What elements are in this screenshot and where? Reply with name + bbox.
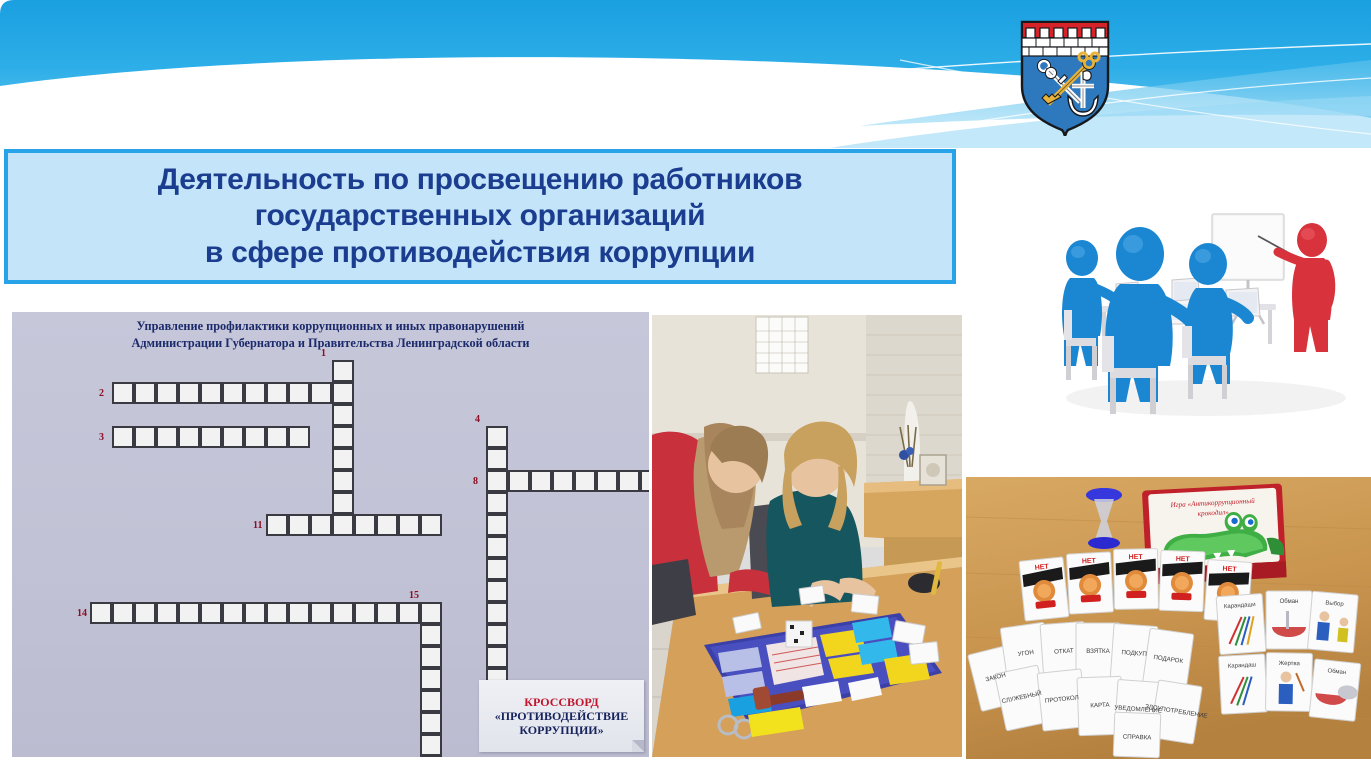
crossword-clue-number: 15 — [409, 590, 419, 601]
crossword-cell[interactable] — [486, 470, 508, 492]
crossword-cell[interactable] — [486, 514, 508, 536]
crossword-cell[interactable] — [310, 382, 332, 404]
slide-root: Деятельность по просвещению работников г… — [0, 0, 1371, 769]
crossword-cell[interactable] — [486, 448, 508, 470]
crossword-cell[interactable] — [508, 470, 530, 492]
crossword-cell[interactable] — [332, 404, 354, 426]
crossword-cell[interactable] — [266, 382, 288, 404]
svg-text:крокодил»: крокодил» — [1197, 508, 1229, 518]
crossword-cell[interactable] — [618, 470, 640, 492]
svg-text:НЕТ: НЕТ — [1082, 558, 1097, 566]
svg-text:СПРАВКА: СПРАВКА — [1123, 734, 1153, 742]
crossword-label-line-3: КОРРУПЦИИ» — [519, 723, 603, 737]
crossword-cell[interactable] — [200, 602, 222, 624]
crossword-cell[interactable] — [486, 624, 508, 646]
crossword-cell[interactable] — [332, 382, 354, 404]
crossword-cell[interactable] — [134, 382, 156, 404]
crossword-cell[interactable] — [178, 602, 200, 624]
header-banner — [0, 0, 1371, 160]
crossword-cell[interactable] — [420, 514, 442, 536]
crossword-cell[interactable] — [288, 602, 310, 624]
title-line-1: Деятельность по просвещению работников — [158, 162, 802, 199]
game-cards-photo: Игра «Антикоррупционный крокодил» — [966, 477, 1371, 759]
crossword-clue-number: 2 — [99, 388, 104, 399]
crossword-cell[interactable] — [376, 514, 398, 536]
crossword-cell[interactable] — [398, 602, 420, 624]
crossword-cell[interactable] — [222, 382, 244, 404]
svg-text:ВЗЯТКА: ВЗЯТКА — [1086, 648, 1110, 655]
crossword-cell[interactable] — [244, 602, 266, 624]
crossword-cell[interactable] — [354, 602, 376, 624]
crossword-cell[interactable] — [486, 602, 508, 624]
crossword-cell[interactable] — [486, 646, 508, 668]
crossword-cell[interactable] — [200, 382, 222, 404]
crossword-cell[interactable] — [486, 558, 508, 580]
title-line-3: в сфере противодействия коррупции — [158, 235, 802, 272]
svg-text:НЕТ: НЕТ — [1222, 566, 1237, 574]
training-illustration — [1036, 196, 1366, 418]
crossword-cell[interactable] — [156, 602, 178, 624]
crossword-image: Управление профилактики коррупционных и … — [12, 312, 649, 757]
crossword-cell[interactable] — [486, 426, 508, 448]
crossword-cell[interactable] — [156, 426, 178, 448]
crossword-cell[interactable] — [244, 382, 266, 404]
training-photo — [652, 315, 962, 757]
crossword-cell[interactable] — [640, 470, 649, 492]
crossword-cell[interactable] — [332, 492, 354, 514]
svg-text:Жертва: Жертва — [1279, 661, 1301, 667]
crossword-cell[interactable] — [112, 382, 134, 404]
crossword-cell[interactable] — [552, 470, 574, 492]
crossword-cell[interactable] — [266, 514, 288, 536]
crossword-cell[interactable] — [332, 514, 354, 536]
crossword-cell[interactable] — [222, 426, 244, 448]
crossword-cell[interactable] — [156, 382, 178, 404]
svg-text:ОТКАТ: ОТКАТ — [1054, 647, 1074, 655]
crossword-clue-number: 1 — [321, 348, 326, 359]
crossword-cell[interactable] — [200, 426, 222, 448]
crossword-cell[interactable] — [134, 426, 156, 448]
crossword-cell[interactable] — [486, 492, 508, 514]
crossword-cell[interactable] — [376, 602, 398, 624]
svg-text:НЕТ: НЕТ — [1176, 556, 1191, 564]
crossword-cell[interactable] — [332, 448, 354, 470]
crossword-cell[interactable] — [420, 602, 442, 624]
svg-text:Обман: Обман — [1280, 599, 1299, 605]
slide-title-box: Деятельность по просвещению работников г… — [4, 149, 956, 284]
crossword-cell[interactable] — [244, 426, 266, 448]
crossword-label-line-2: «ПРОТИВОДЕЙСТВИЕ — [495, 709, 629, 723]
crossword-cell[interactable] — [310, 514, 332, 536]
crossword-clue-number: 3 — [99, 432, 104, 443]
crossword-title-card: КРОССВОРД «ПРОТИВОДЕЙСТВИЕ КОРРУПЦИИ» — [479, 680, 644, 752]
crossword-cell[interactable] — [420, 646, 442, 668]
crossword-cell[interactable] — [288, 382, 310, 404]
crossword-clue-number: 8 — [473, 476, 478, 487]
crossword-cell[interactable] — [288, 426, 310, 448]
crossword-clue-number: 11 — [253, 520, 262, 531]
crossword-cell[interactable] — [596, 470, 618, 492]
crossword-cell[interactable] — [354, 514, 376, 536]
svg-text:КАРТА: КАРТА — [1090, 702, 1110, 710]
crossword-cell[interactable] — [420, 624, 442, 646]
coat-of-arms-emblem — [1004, 14, 1126, 136]
crossword-cell[interactable] — [332, 602, 354, 624]
crossword-cell[interactable] — [266, 426, 288, 448]
crossword-label-line-1: КРОССВОРД — [524, 695, 598, 709]
crossword-cell[interactable] — [420, 756, 442, 757]
crossword-cell[interactable] — [288, 514, 310, 536]
crossword-cell[interactable] — [420, 668, 442, 690]
crossword-cell[interactable] — [112, 602, 134, 624]
svg-text:НЕТ: НЕТ — [1129, 554, 1144, 561]
crossword-cell[interactable] — [486, 536, 508, 558]
crossword-cell[interactable] — [420, 712, 442, 734]
crossword-cell[interactable] — [530, 470, 552, 492]
crossword-cell[interactable] — [420, 690, 442, 712]
crossword-cell[interactable] — [574, 470, 596, 492]
crossword-cell[interactable] — [310, 602, 332, 624]
crossword-cell[interactable] — [332, 360, 354, 382]
crossword-cell[interactable] — [178, 382, 200, 404]
crossword-clue-number: 14 — [77, 608, 87, 619]
crossword-cell[interactable] — [332, 426, 354, 448]
crossword-cell[interactable] — [222, 602, 244, 624]
crossword-cell[interactable] — [134, 602, 156, 624]
crossword-cell[interactable] — [420, 734, 442, 756]
title-line-2: государственных организаций — [158, 198, 802, 235]
crossword-cell[interactable] — [90, 602, 112, 624]
crossword-cell[interactable] — [266, 602, 288, 624]
crossword-cell[interactable] — [398, 514, 420, 536]
page-title: Деятельность по просвещению работников г… — [148, 162, 812, 272]
crossword-clue-number: 4 — [475, 414, 480, 425]
crossword-cell[interactable] — [332, 470, 354, 492]
crossword-cell[interactable] — [178, 426, 200, 448]
crossword-cell[interactable] — [486, 580, 508, 602]
card-folded-corner — [632, 740, 644, 752]
crossword-cell[interactable] — [112, 426, 134, 448]
